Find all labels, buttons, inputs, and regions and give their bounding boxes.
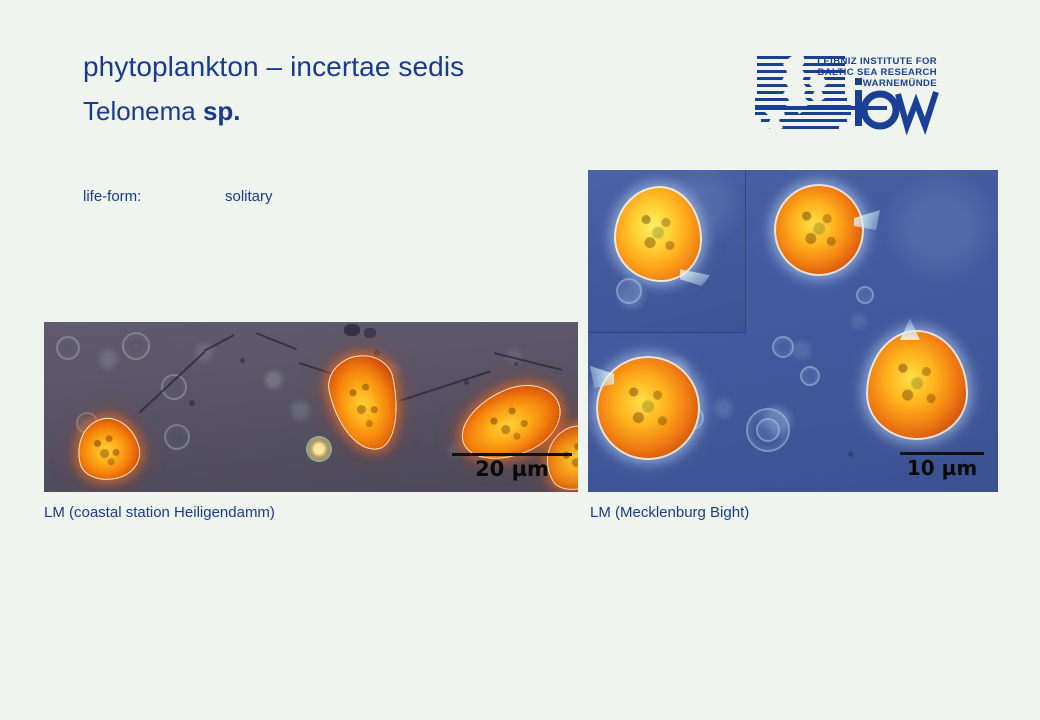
inset-detail-panel (588, 170, 745, 332)
figure-right: 10 µm (588, 170, 998, 492)
speck (189, 400, 195, 406)
telonema-cell (596, 356, 700, 460)
telonema-cell-detail (614, 186, 702, 282)
debris-halo (56, 336, 80, 360)
title-line-species: Telonema sp. (83, 94, 464, 128)
scalebar-left: 20 µm (452, 453, 572, 480)
title-genus: Telonema (83, 96, 196, 126)
speck (464, 380, 469, 385)
title-species-epithet: sp. (203, 96, 241, 126)
telonema-cell (774, 184, 864, 276)
debris-halo (856, 286, 874, 304)
iow-letter-w (898, 92, 936, 126)
cell-granules (608, 368, 687, 447)
speck (514, 362, 518, 366)
lifeform-value: solitary (225, 188, 273, 205)
scalebar-label: 20 µm (452, 459, 572, 480)
logo-text-line1: LEIBNIZ INSTITUTE FOR (817, 56, 937, 67)
debris-halo (756, 418, 780, 442)
figure-left-caption: LM (coastal station Heiligendamm) (44, 504, 275, 521)
logo-text-line2: BALTIC SEA RESEARCH (818, 67, 938, 78)
iow-logo-graphic: LEIBNIZ INSTITUTE FOR BALTIC SEA RESEARC… (755, 50, 940, 138)
debris-clump (364, 328, 376, 338)
title-line-taxon-group: phytoplankton – incertae sedis (83, 50, 464, 84)
slide-canvas: phytoplankton – incertae sedis Telonema … (0, 0, 1040, 720)
page-title: phytoplankton – incertae sedis Telonema … (83, 50, 464, 128)
speck (240, 358, 245, 363)
micrograph-right-image: 10 µm (588, 170, 998, 492)
scalebar-right: 10 µm (900, 452, 984, 478)
debris-halo (800, 366, 820, 386)
debris-halo (122, 332, 150, 360)
speck (848, 452, 853, 457)
scalebar-line (452, 453, 572, 456)
lifeform-label: life-form: (83, 188, 225, 205)
figure-left: 20 µm (44, 322, 578, 492)
cell-granules (878, 343, 956, 427)
debris-clump (344, 324, 360, 336)
bright-particle (306, 436, 332, 462)
debris-halo (772, 336, 794, 358)
scalebar-line (900, 452, 984, 455)
micrograph-left-image: 20 µm (44, 322, 578, 492)
scalebar-label: 10 µm (900, 458, 984, 478)
iow-logo: LEIBNIZ INSTITUTE FOR BALTIC SEA RESEARC… (755, 50, 940, 138)
lifeform-row: life-form:solitary (83, 188, 273, 205)
figure-right-caption: LM (Mecklenburg Bight) (590, 504, 749, 521)
logo-text-line3: WARNEMÜNDE (863, 78, 937, 89)
debris-halo (164, 424, 190, 450)
telonema-cell (866, 330, 968, 440)
cell-granules (785, 195, 853, 265)
